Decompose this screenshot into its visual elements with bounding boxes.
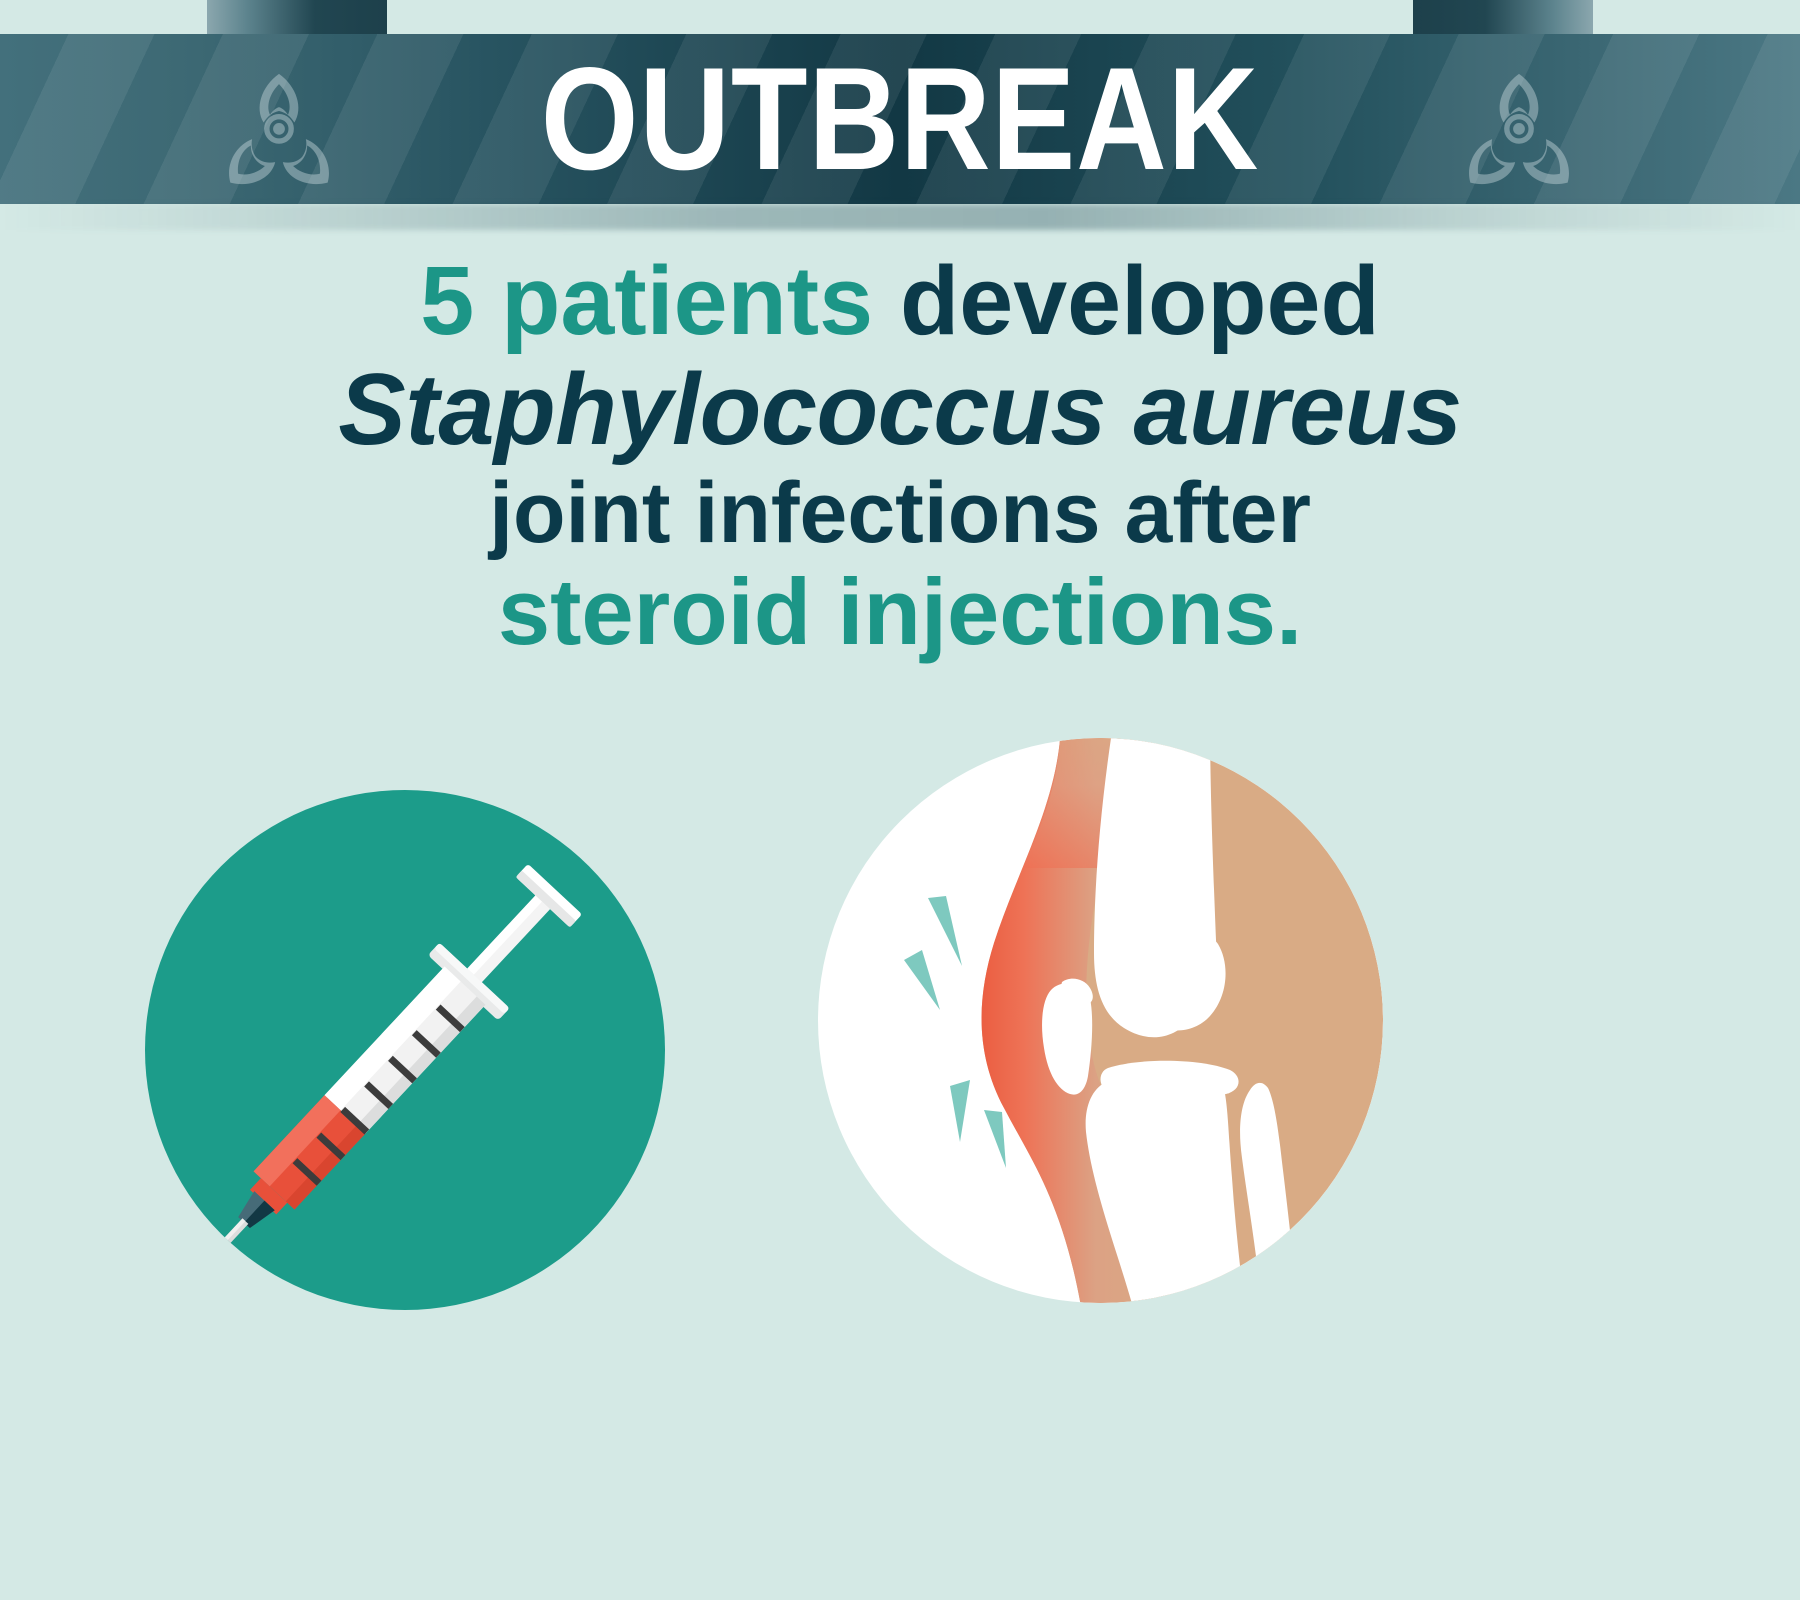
- headline-line-4: steroid injections.: [0, 560, 1800, 663]
- headline-highlight-patients: 5 patients: [420, 246, 873, 355]
- headline-line-3: joint infections after: [0, 466, 1800, 561]
- headline-line-1-rest: developed: [873, 246, 1380, 355]
- knee-joint-illustration: [818, 738, 1383, 1303]
- headline-block: 5 patients developed Staphylococcus aure…: [0, 248, 1800, 664]
- infographic-page: OUTBREAK 5 patients developed Staphyloco…: [0, 0, 1800, 1600]
- syringe-illustration: [145, 790, 665, 1310]
- banner-title: OUTBREAK: [126, 34, 1674, 204]
- headline-species-name: Staphylococcus aureus: [0, 355, 1800, 466]
- ribbon-fold-right: [1413, 0, 1593, 36]
- banner-drop-shadow: [0, 204, 1800, 230]
- ribbon-fold-left: [207, 0, 387, 36]
- headline-line-1: 5 patients developed: [0, 248, 1800, 355]
- outbreak-banner: OUTBREAK: [0, 0, 1800, 215]
- syringe-icon: [145, 790, 665, 1310]
- knee-anatomy-icon: [818, 738, 1383, 1303]
